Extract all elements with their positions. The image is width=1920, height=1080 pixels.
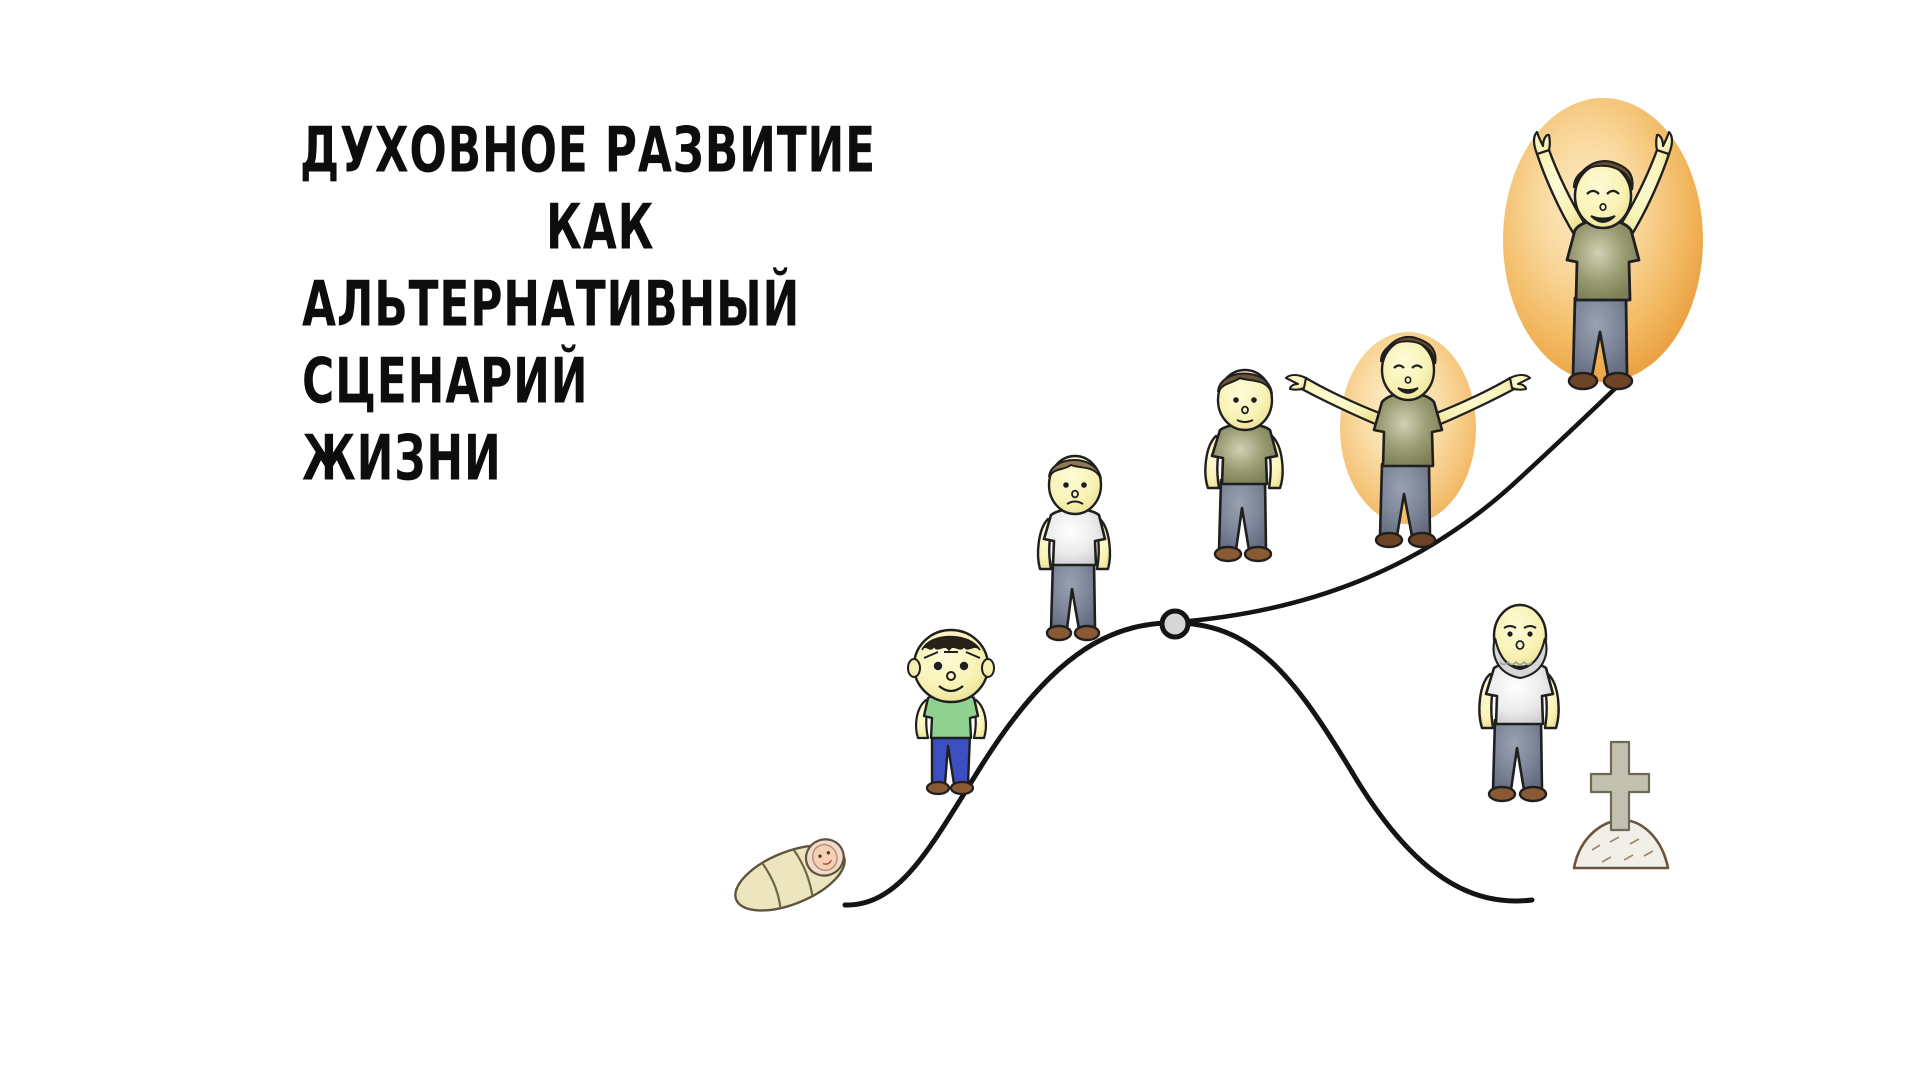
grave-marker [1574,742,1668,868]
illustration-canvas: ДУХОВНОЕ РАЗВИТИЕ КАК АЛЬТЕРНАТИВНЫЙ СЦЕ… [0,0,1920,1080]
figure-old-man [1479,605,1558,801]
figure-teen [1038,456,1110,640]
figure-awakening [1286,332,1530,547]
branch-point-marker[interactable] [1162,611,1188,637]
figure-adult [1205,370,1282,561]
figure-enlightened [1503,98,1703,389]
life-path-diagram [0,0,1920,1080]
cross-icon [1591,742,1649,830]
figure-swaddled-baby [726,832,854,924]
